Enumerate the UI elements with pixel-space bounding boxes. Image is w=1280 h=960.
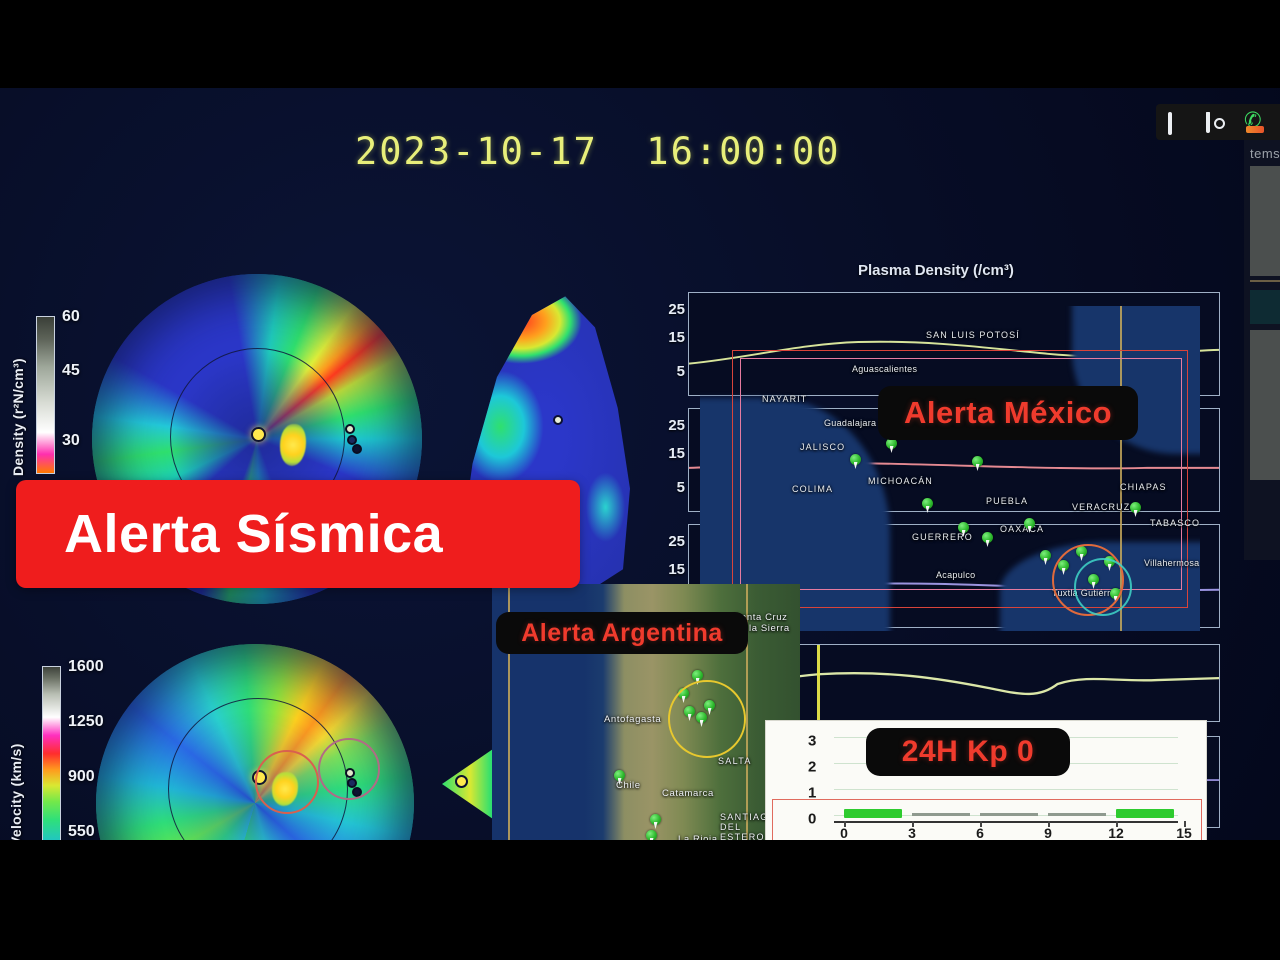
- kp-bar-4: [1116, 809, 1174, 818]
- quake-pin[interactable]: [958, 522, 969, 533]
- enlil-velocity-polar-plot: [96, 644, 414, 840]
- screenshot-root: Density (r²N/cm³) 60 45 30 Radial Veloci…: [0, 0, 1280, 960]
- quake-pin[interactable]: [972, 456, 983, 467]
- planet-marker-earth-density: [345, 424, 355, 434]
- quake-pin[interactable]: [1076, 546, 1087, 557]
- alerta-mexico-badge: Alerta México: [878, 386, 1138, 440]
- quake-pin[interactable]: [982, 532, 993, 543]
- side-panel-teal-row[interactable]: [1250, 290, 1280, 324]
- letterbox-bottom: [0, 840, 1280, 960]
- quake-pin[interactable]: [1024, 518, 1035, 529]
- velocity-colorbar-gradient: [42, 666, 61, 840]
- quake-pin[interactable]: [922, 498, 933, 509]
- planet-marker-b-density: [352, 444, 362, 454]
- timeseries-panel-2-yticks: 25 15 5: [651, 409, 687, 511]
- sun-marker-wedge-secondary: [455, 775, 468, 788]
- velocity-colorbar-label: Radial Velocity (km/s): [8, 666, 24, 840]
- tehuantepec-sea-area: [1000, 542, 1200, 631]
- density-colorbar: Density (r²N/cm³) 60 45 30: [6, 310, 98, 480]
- side-panel-label: tems: [1250, 146, 1280, 161]
- timeseries-panel-1-yticks: 25 15 5: [651, 293, 687, 395]
- map-gridline-vertical: [1120, 306, 1122, 631]
- simulation-timestamp: 2023-10-17 16:00:00: [355, 130, 841, 173]
- velocity-colorbar: Radial Velocity (km/s) 1600 1250 900 550…: [6, 658, 106, 840]
- quake-pin[interactable]: [1130, 502, 1141, 513]
- quake-pin[interactable]: [1058, 560, 1069, 571]
- quake-pin[interactable]: [1104, 556, 1115, 567]
- quake-pin[interactable]: [684, 706, 695, 717]
- side-panel-card-1[interactable]: [1250, 166, 1280, 276]
- plasma-density-title: Plasma Density (/cm³): [858, 262, 1014, 279]
- side-panel-divider: [1250, 280, 1280, 282]
- side-panel-card-2[interactable]: [1250, 330, 1280, 480]
- planet-marker-earth-velocity: [345, 768, 355, 778]
- quake-pin[interactable]: [1088, 574, 1099, 585]
- alerta-argentina-badge: Alerta Argentina: [496, 612, 748, 654]
- earth-marker-wedge: [553, 415, 563, 425]
- quake-pin[interactable]: [704, 700, 715, 711]
- planet-marker-b-velocity: [352, 787, 362, 797]
- quake-pin[interactable]: [678, 688, 689, 699]
- right-side-panel[interactable]: tems: [1244, 140, 1280, 560]
- alerta-sismica-banner: Alerta Sísmica: [16, 480, 580, 588]
- sun-marker-density: [251, 427, 266, 442]
- enlil-visualization-canvas: Density (r²N/cm³) 60 45 30 Radial Veloci…: [0, 88, 1280, 840]
- kp-value-badge: 24H Kp 0: [866, 728, 1070, 776]
- kp-bar-0: [844, 809, 902, 818]
- quake-pin[interactable]: [692, 670, 703, 681]
- quake-pin[interactable]: [650, 814, 661, 825]
- quake-pin[interactable]: [696, 712, 707, 723]
- kp-flat-1: [912, 813, 970, 816]
- letterbox-top: [0, 0, 1280, 88]
- kp-flat-2: [980, 813, 1038, 816]
- density-colorbar-gradient: [36, 316, 55, 474]
- mexico-earthquake-map[interactable]: NAYARIT JALISCO COLIMA MICHOACÁN PUEBLA …: [700, 306, 1200, 631]
- quake-pin[interactable]: [1110, 588, 1121, 599]
- kp-flat-3: [1048, 813, 1106, 816]
- density-colorbar-label: Density (r²N/cm³): [10, 316, 26, 476]
- sun-marker-velocity: [252, 770, 267, 785]
- phone-icon[interactable]: [1244, 114, 1268, 131]
- screen-share-icon[interactable]: [1168, 114, 1192, 131]
- video-call-toolbar[interactable]: [1156, 104, 1280, 140]
- quake-pin[interactable]: [1040, 550, 1051, 561]
- quake-pin[interactable]: [850, 454, 861, 465]
- quake-pin[interactable]: [646, 830, 657, 840]
- now-marker-line-panel-4: [817, 645, 820, 723]
- quake-pin[interactable]: [614, 770, 625, 781]
- camera-icon[interactable]: [1206, 114, 1230, 131]
